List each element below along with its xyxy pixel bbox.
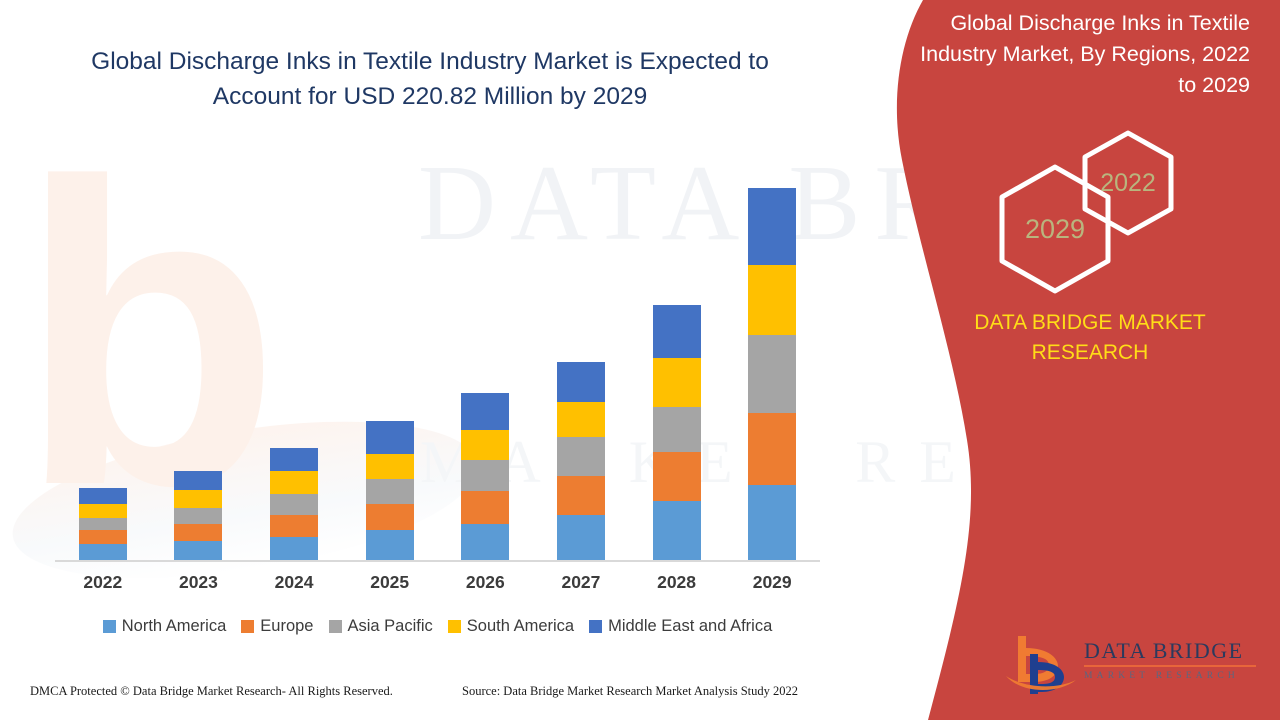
bar-segment[interactable] <box>79 544 127 560</box>
bar-column-2028[interactable] <box>653 305 701 560</box>
bar-column-2027[interactable] <box>557 362 605 560</box>
bar-segment[interactable] <box>174 524 222 541</box>
dbmr-logo-title: DATA BRIDGE <box>1084 638 1256 663</box>
page-title: Global Discharge Inks in Textile Industr… <box>60 44 800 114</box>
bar-segment[interactable] <box>557 515 605 560</box>
bar-segment[interactable] <box>174 508 222 524</box>
legend-swatch-icon <box>103 620 116 633</box>
dbmr-logo-text: DATA BRIDGE MARKET RESEARCH <box>1084 638 1256 682</box>
legend-label: South America <box>467 617 574 636</box>
dbmr-logo: DATA BRIDGE MARKET RESEARCH <box>1004 632 1254 696</box>
bar-segment[interactable] <box>270 537 318 560</box>
bar-segment[interactable] <box>748 188 796 265</box>
x-axis-label-2023: 2023 <box>174 572 222 593</box>
bar-segment[interactable] <box>748 485 796 560</box>
footer-dmca-text: DMCA Protected © Data Bridge Market Rese… <box>30 684 393 699</box>
x-axis-label-2028: 2028 <box>653 572 701 593</box>
legend-label: Europe <box>260 617 313 636</box>
bar-column-2022[interactable] <box>79 488 127 560</box>
x-axis-label-2025: 2025 <box>366 572 414 593</box>
bar-segment[interactable] <box>557 402 605 436</box>
bar-segment[interactable] <box>366 479 414 504</box>
legend-swatch-icon <box>241 620 254 633</box>
chart-plot-area <box>55 150 820 560</box>
bar-segment[interactable] <box>461 393 509 431</box>
bar-column-2026[interactable] <box>461 393 509 560</box>
bar-segment[interactable] <box>461 491 509 524</box>
bar-segment[interactable] <box>653 452 701 500</box>
legend-label: Asia Pacific <box>348 617 433 636</box>
legend-item-south-america[interactable]: South America <box>448 617 574 636</box>
bar-segment[interactable] <box>270 494 318 514</box>
x-axis-label-2024: 2024 <box>270 572 318 593</box>
bar-segment[interactable] <box>79 530 127 544</box>
brand-name: DATA BRIDGE MARKET RESEARCH <box>810 308 1250 368</box>
legend-label: North America <box>122 617 227 636</box>
footer: DMCA Protected © Data Bridge Market Rese… <box>0 684 860 710</box>
hexagon-group: 2022 2029 <box>980 128 1210 268</box>
chart-panel: Global Discharge Inks in Textile Industr… <box>0 0 860 720</box>
legend-item-middle-east-and-africa[interactable]: Middle East and Africa <box>589 617 772 636</box>
dbmr-logo-subtitle: MARKET RESEARCH <box>1084 670 1256 682</box>
bar-segment[interactable] <box>653 358 701 406</box>
bar-segment[interactable] <box>557 362 605 403</box>
footer-source-text: Source: Data Bridge Market Research Mark… <box>462 684 798 699</box>
x-axis-labels: 20222023202420252026202720282029 <box>55 572 820 593</box>
bar-segment[interactable] <box>366 504 414 531</box>
bar-segment[interactable] <box>748 413 796 485</box>
legend-item-europe[interactable]: Europe <box>241 617 313 636</box>
hexagon-2029: 2029 <box>996 162 1114 296</box>
legend-swatch-icon <box>589 620 602 633</box>
dbmr-logo-divider <box>1084 665 1256 667</box>
bar-segment[interactable] <box>557 476 605 515</box>
bar-column-2029[interactable] <box>748 188 796 560</box>
x-axis-label-2027: 2027 <box>557 572 605 593</box>
bar-segment[interactable] <box>366 421 414 454</box>
bar-segment[interactable] <box>366 454 414 479</box>
bar-segment[interactable] <box>79 488 127 504</box>
bar-segment[interactable] <box>653 305 701 358</box>
legend-item-north-america[interactable]: North America <box>103 617 227 636</box>
chart-legend: North AmericaEuropeAsia PacificSouth Ame… <box>55 617 820 636</box>
bar-segment[interactable] <box>461 430 509 460</box>
bar-segment[interactable] <box>653 501 701 560</box>
legend-item-asia-pacific[interactable]: Asia Pacific <box>329 617 433 636</box>
brand-panel: Global Discharge Inks in Textile Industr… <box>810 0 1280 720</box>
x-axis-label-2022: 2022 <box>79 572 127 593</box>
bar-segment[interactable] <box>174 490 222 509</box>
bar-segment[interactable] <box>79 518 127 531</box>
bar-segment[interactable] <box>366 530 414 560</box>
bar-segment[interactable] <box>461 524 509 560</box>
legend-swatch-icon <box>329 620 342 633</box>
legend-label: Middle East and Africa <box>608 617 772 636</box>
legend-swatch-icon <box>448 620 461 633</box>
bar-segment[interactable] <box>748 335 796 413</box>
stacked-bar-group <box>55 150 820 560</box>
bar-column-2024[interactable] <box>270 448 318 561</box>
bar-segment[interactable] <box>270 448 318 471</box>
bar-segment[interactable] <box>270 515 318 537</box>
hexagon-2029-label: 2029 <box>1025 214 1085 245</box>
bar-column-2025[interactable] <box>366 421 414 560</box>
bar-segment[interactable] <box>270 471 318 494</box>
bar-segment[interactable] <box>653 407 701 452</box>
dbmr-monogram-icon <box>1004 632 1082 696</box>
bar-segment[interactable] <box>557 437 605 476</box>
x-axis-label-2026: 2026 <box>461 572 509 593</box>
bar-segment[interactable] <box>174 471 222 490</box>
bar-segment[interactable] <box>79 504 127 518</box>
bar-segment[interactable] <box>174 541 222 560</box>
bar-column-2023[interactable] <box>174 471 222 560</box>
panel-title: Global Discharge Inks in Textile Industr… <box>902 8 1250 101</box>
x-axis-label-2029: 2029 <box>748 572 796 593</box>
bar-segment[interactable] <box>461 460 509 491</box>
bar-segment[interactable] <box>748 265 796 335</box>
x-axis-line <box>55 560 820 562</box>
